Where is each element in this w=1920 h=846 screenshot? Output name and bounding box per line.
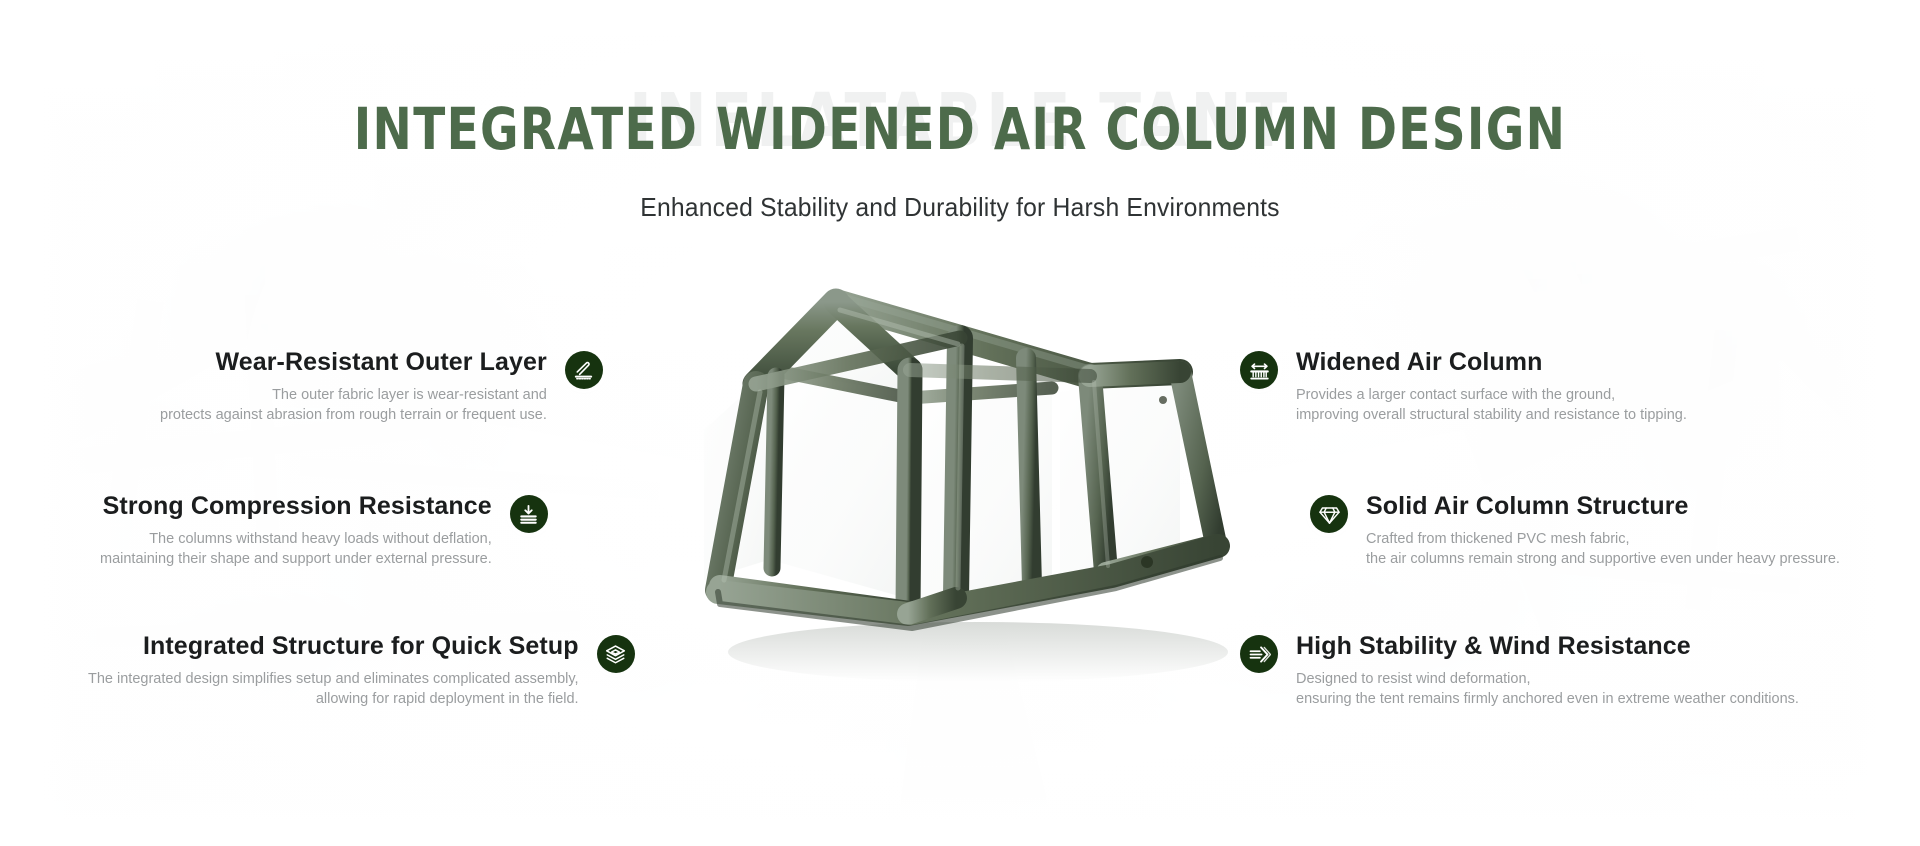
feature-strong-compression-resistance[interactable]: Strong Compression Resistance The column… xyxy=(100,492,548,570)
feature-description-line-1: Designed to resist wind deformation, xyxy=(1296,669,1531,690)
abrasion-resistance-icon[interactable] xyxy=(565,351,603,389)
feature-description-line-2: allowing for rapid deployment in the fie… xyxy=(316,689,579,710)
feature-text: Wear-Resistant Outer Layer The outer fab… xyxy=(160,348,565,426)
layered-cube-icon[interactable] xyxy=(597,635,635,673)
page-subtitle: Enhanced Stability and Durability for Ha… xyxy=(48,192,1872,223)
diamond-icon[interactable] xyxy=(1310,495,1348,533)
feature-description-line-1: Provides a larger contact surface with t… xyxy=(1296,385,1615,406)
feature-description-line-2: ensuring the tent remains firmly anchore… xyxy=(1296,689,1799,710)
feature-text: High Stability & Wind Resistance Designe… xyxy=(1278,632,1799,710)
feature-description-line-2: protects against abrasion from rough ter… xyxy=(160,405,547,426)
feature-description-line-1: Crafted from thickened PVC mesh fabric, xyxy=(1366,529,1630,550)
feature-title: Strong Compression Resistance xyxy=(103,492,492,522)
feature-text: Solid Air Column Structure Crafted from … xyxy=(1348,492,1840,570)
feature-text: Widened Air Column Provides a larger con… xyxy=(1278,348,1687,426)
feature-title: Wear-Resistant Outer Layer xyxy=(215,348,546,378)
feature-high-stability-wind-resistance[interactable]: High Stability & Wind Resistance Designe… xyxy=(1240,632,1799,710)
widened-base-icon[interactable] xyxy=(1240,351,1278,389)
feature-text: Integrated Structure for Quick Setup The… xyxy=(88,632,597,710)
feature-text: Strong Compression Resistance The column… xyxy=(100,492,510,570)
infographic-stage: INFLATABLE TANT INTEGRATED WIDENED AIR C… xyxy=(0,0,1920,846)
feature-wear-resistant-outer-layer[interactable]: Wear-Resistant Outer Layer The outer fab… xyxy=(160,348,603,426)
feature-description-line-2: improving overall structural stability a… xyxy=(1296,405,1687,426)
tent-frame-illustration xyxy=(660,280,1280,700)
feature-title: Solid Air Column Structure xyxy=(1366,492,1689,522)
feature-description-line-1: The columns withstand heavy loads withou… xyxy=(149,529,492,550)
product-image-inflatable-tent xyxy=(660,280,1280,700)
feature-title: Widened Air Column xyxy=(1296,348,1542,378)
page-title: INTEGRATED WIDENED AIR COLUMN DESIGN xyxy=(96,95,1824,163)
feature-description-line-1: The outer fabric layer is wear-resistant… xyxy=(272,385,547,406)
feature-integrated-structure-quick-setup[interactable]: Integrated Structure for Quick Setup The… xyxy=(88,632,635,710)
feature-description-line-2: the air columns remain strong and suppor… xyxy=(1366,549,1840,570)
feature-title: High Stability & Wind Resistance xyxy=(1296,632,1691,662)
feature-description-line-1: The integrated design simplifies setup a… xyxy=(88,669,579,690)
compression-load-icon[interactable] xyxy=(510,495,548,533)
feature-widened-air-column[interactable]: Widened Air Column Provides a larger con… xyxy=(1240,348,1687,426)
wind-resistance-icon[interactable] xyxy=(1240,635,1278,673)
feature-title: Integrated Structure for Quick Setup xyxy=(143,632,579,662)
feature-solid-air-column-structure[interactable]: Solid Air Column Structure Crafted from … xyxy=(1310,492,1840,570)
feature-description-line-2: maintaining their shape and support unde… xyxy=(100,549,492,570)
